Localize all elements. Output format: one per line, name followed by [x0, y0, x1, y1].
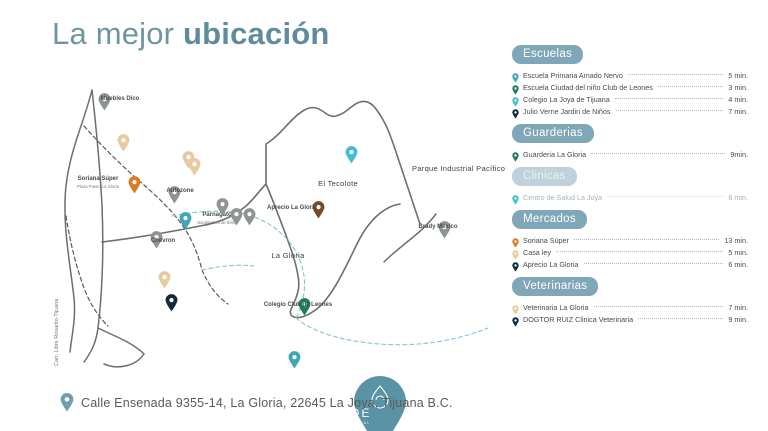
poi-list-item[interactable]: Julio Verne Jardin de Niños7 min. [512, 106, 748, 116]
map-marker-label: Brady México [418, 224, 457, 232]
poi-list-item[interactable]: Escuela Primaria Amado Nervo5 min. [512, 70, 748, 80]
location-infographic: La mejor ubicación [0, 0, 768, 431]
map-marker-label: Aprecio La Gloria [267, 205, 317, 213]
poi-time: 7 min. [728, 303, 748, 312]
map-pin-icon [345, 146, 358, 164]
map-pin-icon [165, 294, 178, 312]
poi-list: Soriana Súper13 min.Casa ley5 min.Apreci… [512, 235, 748, 269]
map-pin-icon [512, 109, 519, 119]
poi-time: 8 min. [728, 193, 748, 202]
map-marker-label: Soriana SúperPlaza Paseo La Gloria [77, 176, 119, 189]
poi-leader-line [556, 251, 723, 252]
map-marker-label-text: Muebles Dico [101, 96, 140, 102]
map-marker-label-text: Aprecio La Gloria [267, 205, 317, 211]
poi-pin-icon [512, 259, 519, 269]
poi-time: 9 min. [728, 315, 748, 324]
poi-name: Julio Verne Jardin de Niños [523, 107, 611, 116]
poi-section-heading: Mercados [512, 210, 587, 229]
poi-leader-line [616, 110, 724, 111]
map-marker-label-text: Chevron [151, 238, 175, 244]
page-title: La mejor ubicación [52, 16, 330, 52]
map-marker-label-text: Colegio Club de Leones [264, 302, 332, 308]
poi-name: Colegio La Joya de Tijuana [523, 95, 610, 104]
map-marker-label: Colegio Club de Leones [264, 302, 332, 310]
map-pin-icon [288, 351, 301, 369]
map-marker-label-text: Autozone [166, 188, 193, 194]
poi-pin-icon [512, 192, 519, 202]
poi-leader-line [615, 98, 724, 99]
poi-time: 5 min. [728, 248, 748, 257]
poi-leader-line [591, 153, 725, 154]
poi-panel: EscuelasEscuela Primaria Amado Nervo5 mi… [512, 44, 748, 331]
poi-time: 4 min. [728, 95, 748, 104]
jade-subtitle: RESIDENCIAL [333, 421, 372, 425]
map-pin-icon [512, 262, 519, 272]
poi-time: 6 min. [728, 260, 748, 269]
poi-pin-icon [512, 314, 519, 324]
poi-list-item[interactable]: Centro de Salud La Joya8 min. [512, 192, 748, 202]
map-pin-icon [512, 317, 519, 327]
poi-section-escuelas: EscuelasEscuela Primaria Amado Nervo5 mi… [512, 44, 748, 116]
location-pin-icon [60, 393, 74, 412]
poi-name: Guarderia La Gloria [523, 150, 586, 159]
map-pin-icon [128, 176, 141, 194]
map-area-label: La Gloria [271, 251, 304, 260]
map-marker-label: Chevron [151, 238, 175, 246]
map-pin-icon [216, 198, 229, 216]
map-pin-icon [243, 208, 256, 226]
poi-name: Soriana Súper [523, 236, 569, 245]
title-bold: ubicación [183, 16, 330, 51]
poi-section-guarderias: GuarderiasGuarderia La Gloria9min. [512, 123, 748, 159]
poi-leader-line [594, 306, 724, 307]
poi-name: Escuela Primaria Amado Nervo [523, 71, 623, 80]
poi-list-item[interactable]: DOGTOR RUIZ Clinica Veterinaria9 min. [512, 314, 748, 324]
poi-section-veterinarias: VeterinariasVeterinaria La Gloria7 min.D… [512, 276, 748, 324]
poi-list: Guarderia La Gloria9min. [512, 149, 748, 159]
poi-leader-line [628, 74, 724, 75]
poi-section-heading: Clinicas [512, 167, 577, 186]
poi-name: Escuela Ciudad del niño Club de Leones [523, 83, 653, 92]
poi-name: Casa ley [523, 248, 551, 257]
map-marker-label-text: Brady México [418, 224, 457, 230]
poi-pin-icon [512, 82, 519, 92]
map-pin-icon [512, 152, 519, 162]
poi-pin-icon [512, 235, 519, 245]
poi-leader-line [584, 263, 724, 264]
poi-section-heading: Escuelas [512, 45, 583, 64]
map-area-label: El Tecolote [318, 179, 358, 188]
poi-name: Veterinaria La Gloria [523, 303, 589, 312]
address-bar: Calle Ensenada 9355-14, La Gloria, 22645… [60, 393, 453, 412]
poi-pin-icon [512, 247, 519, 257]
poi-section-heading: Guarderias [512, 124, 594, 143]
map-area-label: Parque Industrial Pacífico [412, 164, 492, 173]
poi-list-item[interactable]: Guarderia La Gloria9min. [512, 149, 748, 159]
poi-pin-icon [512, 106, 519, 116]
poi-list-item[interactable]: Escuela Ciudad del niño Club de Leones3 … [512, 82, 748, 92]
poi-list-item[interactable]: Veterinaria La Gloria7 min. [512, 302, 748, 312]
address-text: Calle Ensenada 9355-14, La Gloria, 22645… [81, 396, 453, 410]
map-pin-icon [179, 212, 192, 230]
map-pin-icon [512, 195, 519, 205]
poi-leader-line [607, 196, 723, 197]
map-marker-label: Autozone [166, 188, 193, 196]
poi-pin-icon [512, 302, 519, 312]
poi-pin-icon [512, 149, 519, 159]
map-marker-label: Muebles Dico [101, 96, 140, 104]
poi-section-heading: Veterinarias [512, 277, 598, 296]
poi-list: Escuela Primaria Amado Nervo5 min.Escuel… [512, 70, 748, 116]
poi-list: Veterinaria La Gloria7 min.DOGTOR RUIZ C… [512, 302, 748, 324]
poi-section-mercados: MercadosSoriana Súper13 min.Casa ley5 mi… [512, 209, 748, 269]
poi-leader-line [638, 318, 723, 319]
poi-pin-icon [512, 70, 519, 80]
map-marker-label-sub: Plaza Paseo La Gloria [77, 184, 119, 189]
map-pin-icon [230, 208, 243, 226]
poi-time: 5 min. [728, 71, 748, 80]
map-marker-label-text: Soriana Súper [78, 176, 119, 182]
poi-leader-line [658, 86, 724, 87]
poi-list: Centro de Salud La Joya8 min. [512, 192, 748, 202]
poi-list-item[interactable]: Soriana Súper13 min. [512, 235, 748, 245]
poi-name: DOGTOR RUIZ Clinica Veterinaria [523, 315, 633, 324]
poi-time: 3 min. [728, 83, 748, 92]
map-pin-icon [158, 271, 171, 289]
map-pin-icon [117, 134, 130, 152]
map-pin-icon [188, 158, 201, 176]
poi-time: 13 min. [724, 236, 748, 245]
poi-section-clinicas: ClinicasCentro de Salud La Joya8 min. [512, 166, 748, 202]
poi-pin-icon [512, 94, 519, 104]
map-road-label: Carr. Libre Rosarito-Tijuana [54, 299, 60, 366]
poi-time: 7 min. [728, 107, 748, 116]
poi-list-item[interactable]: Colegio La Joya de Tijuana4 min. [512, 94, 748, 104]
poi-list-item[interactable]: Aprecio La Gloria6 min. [512, 259, 748, 269]
poi-time: 9min. [730, 150, 748, 159]
poi-list-item[interactable]: Casa ley5 min. [512, 247, 748, 257]
title-light: La mejor [52, 16, 183, 51]
map-area[interactable]: Carr. Libre Rosarito-Tijuana El Tecolote… [40, 66, 510, 376]
poi-name: Aprecio La Gloria [523, 260, 579, 269]
poi-leader-line [574, 239, 719, 240]
poi-name: Centro de Salud La Joya [523, 193, 602, 202]
